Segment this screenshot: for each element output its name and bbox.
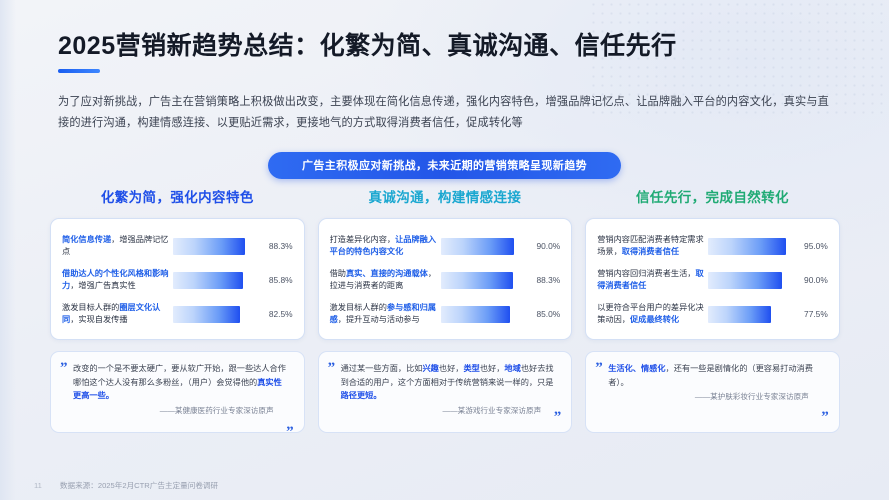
quote-text: 生活化、情感化，还有一些是剧情化的（更容易打动消费者）。 bbox=[608, 362, 825, 389]
column-2-bars-card: 打造差异化内容，让品牌融入平台的特色内容文化 90.0% 借助真实、直接的沟通载… bbox=[318, 218, 573, 340]
quote-open-mark: ” bbox=[595, 361, 603, 376]
bar-fill bbox=[173, 272, 243, 289]
bar-label: 激发目标人群的圈层文化认同，实现自发传播 bbox=[62, 302, 173, 325]
bar-track bbox=[708, 306, 790, 323]
highlight-badge: 广告主积极应对新挑战，未来近期的营销策略呈现新趋势 bbox=[268, 152, 621, 179]
bar-label: 营销内容匹配消费者特定需求场景，取得消费者信任 bbox=[597, 234, 708, 257]
bar-fill bbox=[173, 238, 245, 255]
bar-value: 88.3% bbox=[255, 241, 293, 251]
bar-label: 借助真实、直接的沟通载体，拉进与消费者的距离 bbox=[330, 268, 441, 291]
bar-fill bbox=[441, 238, 514, 255]
bar-label: 打造差异化内容，让品牌融入平台的特色内容文化 bbox=[330, 234, 441, 257]
bar-value: 95.0% bbox=[790, 241, 828, 251]
bar-row: 营销内容回归消费者生活，取得消费者信任 90.0% bbox=[597, 263, 828, 297]
quote-text: 改变的一个是不要太硬广，要从软广开始，跟一些达人合作哪怕这个达人没有那么多粉丝，… bbox=[73, 362, 290, 403]
column-3: 信任先行，完成自然转化 营销内容匹配消费者特定需求场景，取得消费者信任 95.0… bbox=[585, 186, 840, 433]
columns-container: 化繁为简，强化内容特色 简化信息传递，增强品牌记忆点 88.3% 借助达人的个性… bbox=[50, 186, 840, 433]
bar-fill bbox=[708, 306, 771, 323]
column-2-quote-card: ” 通过某一些方面，比如兴趣也好，类型也好，地域也好去找到合适的用户，这个方面相… bbox=[318, 351, 573, 433]
bar-value: 90.0% bbox=[790, 275, 828, 285]
column-1-heading: 化繁为简，强化内容特色 bbox=[50, 186, 305, 206]
bar-track bbox=[441, 238, 523, 255]
bar-track bbox=[708, 238, 790, 255]
quote-close-mark: ” bbox=[286, 425, 294, 433]
bar-row: 激发目标人群的圈层文化认同，实现自发传播 82.5% bbox=[62, 297, 293, 331]
bar-row: 打造差异化内容，让品牌融入平台的特色内容文化 90.0% bbox=[330, 229, 561, 263]
bar-fill bbox=[708, 272, 781, 289]
bar-fill bbox=[708, 238, 786, 255]
column-3-heading: 信任先行，完成自然转化 bbox=[585, 186, 840, 206]
bar-track bbox=[708, 272, 790, 289]
slide-root: 2025营销新趋势总结：化繁为简、真诚沟通、信任先行 为了应对新挑战，广告主在营… bbox=[0, 0, 889, 500]
bar-row: 借助达人的个性化风格和影响力，增强广告真实性 85.8% bbox=[62, 263, 293, 297]
bar-row: 简化信息传递，增强品牌记忆点 88.3% bbox=[62, 229, 293, 263]
bar-row: 以更符合平台用户的差异化决策动因，促成最终转化 77.5% bbox=[597, 297, 828, 331]
column-3-bars-card: 营销内容匹配消费者特定需求场景，取得消费者信任 95.0% 营销内容回归消费者生… bbox=[585, 218, 840, 340]
intro-paragraph: 为了应对新挑战，广告主在营销策略上积极做出改变，主要体现在简化信息传递，强化内容… bbox=[58, 92, 838, 134]
bar-label: 营销内容回归消费者生活，取得消费者信任 bbox=[597, 268, 708, 291]
page-title: 2025营销新趋势总结：化繁为简、真诚沟通、信任先行 bbox=[58, 26, 677, 62]
quote-text: 通过某一些方面，比如兴趣也好，类型也好，地域也好去找到合适的用户，这个方面相对于… bbox=[341, 362, 558, 403]
bar-value: 88.3% bbox=[522, 275, 560, 285]
quote-source: ——某游戏行业专家深访原声 bbox=[341, 405, 558, 416]
bar-fill bbox=[441, 306, 510, 323]
bar-value: 77.5% bbox=[790, 309, 828, 319]
quote-open-mark: ” bbox=[60, 361, 68, 376]
column-1: 化繁为简，强化内容特色 简化信息传递，增强品牌记忆点 88.3% 借助达人的个性… bbox=[50, 186, 305, 433]
column-2: 真诚沟通，构建情感连接 打造差异化内容，让品牌融入平台的特色内容文化 90.0%… bbox=[318, 186, 573, 433]
quote-close-mark: ” bbox=[821, 410, 829, 425]
bar-track bbox=[173, 306, 255, 323]
page-number: 11 bbox=[34, 481, 42, 490]
bar-fill bbox=[441, 272, 513, 289]
bar-row: 营销内容匹配消费者特定需求场景，取得消费者信任 95.0% bbox=[597, 229, 828, 263]
bar-track bbox=[173, 238, 255, 255]
bar-value: 85.8% bbox=[255, 275, 293, 285]
badge-row: 广告主积极应对新挑战，未来近期的营销策略呈现新趋势 bbox=[0, 152, 889, 179]
column-1-quote-card: ” 改变的一个是不要太硬广，要从软广开始，跟一些达人合作哪怕这个达人没有那么多粉… bbox=[50, 351, 305, 433]
data-source-note: 数据来源：2025年2月CTR广告主定量问卷调研 bbox=[60, 480, 218, 491]
bar-row: 激发目标人群的参与感和归属感，提升互动与活动参与 85.0% bbox=[330, 297, 561, 331]
footer: 11 数据来源：2025年2月CTR广告主定量问卷调研 bbox=[34, 480, 218, 491]
bar-label: 简化信息传递，增强品牌记忆点 bbox=[62, 234, 173, 257]
column-1-bars-card: 简化信息传递，增强品牌记忆点 88.3% 借助达人的个性化风格和影响力，增强广告… bbox=[50, 218, 305, 340]
quote-open-mark: ” bbox=[328, 361, 336, 376]
bar-label: 激发目标人群的参与感和归属感，提升互动与活动参与 bbox=[330, 302, 441, 325]
column-2-heading: 真诚沟通，构建情感连接 bbox=[318, 186, 573, 206]
bar-track bbox=[173, 272, 255, 289]
bar-value: 82.5% bbox=[255, 309, 293, 319]
column-3-quote-card: ” 生活化、情感化，还有一些是剧情化的（更容易打动消费者）。 ——某护肤彩妆行业… bbox=[585, 351, 840, 433]
bar-fill bbox=[173, 306, 240, 323]
title-underline-accent bbox=[58, 69, 100, 73]
bar-row: 借助真实、直接的沟通载体，拉进与消费者的距离 88.3% bbox=[330, 263, 561, 297]
left-edge-fade-decoration bbox=[0, 0, 16, 500]
bar-track bbox=[441, 272, 523, 289]
bar-value: 85.0% bbox=[522, 309, 560, 319]
quote-close-mark: ” bbox=[554, 410, 562, 425]
bar-label: 借助达人的个性化风格和影响力，增强广告真实性 bbox=[62, 268, 173, 291]
bar-value: 90.0% bbox=[522, 241, 560, 251]
bar-label: 以更符合平台用户的差异化决策动因，促成最终转化 bbox=[597, 302, 708, 325]
bar-track bbox=[441, 306, 523, 323]
quote-source: ——某护肤彩妆行业专家深访原声 bbox=[608, 391, 825, 402]
title-block: 2025营销新趋势总结：化繁为简、真诚沟通、信任先行 bbox=[58, 26, 677, 73]
quote-source: ——某健康医药行业专家深访原声 bbox=[73, 405, 290, 416]
